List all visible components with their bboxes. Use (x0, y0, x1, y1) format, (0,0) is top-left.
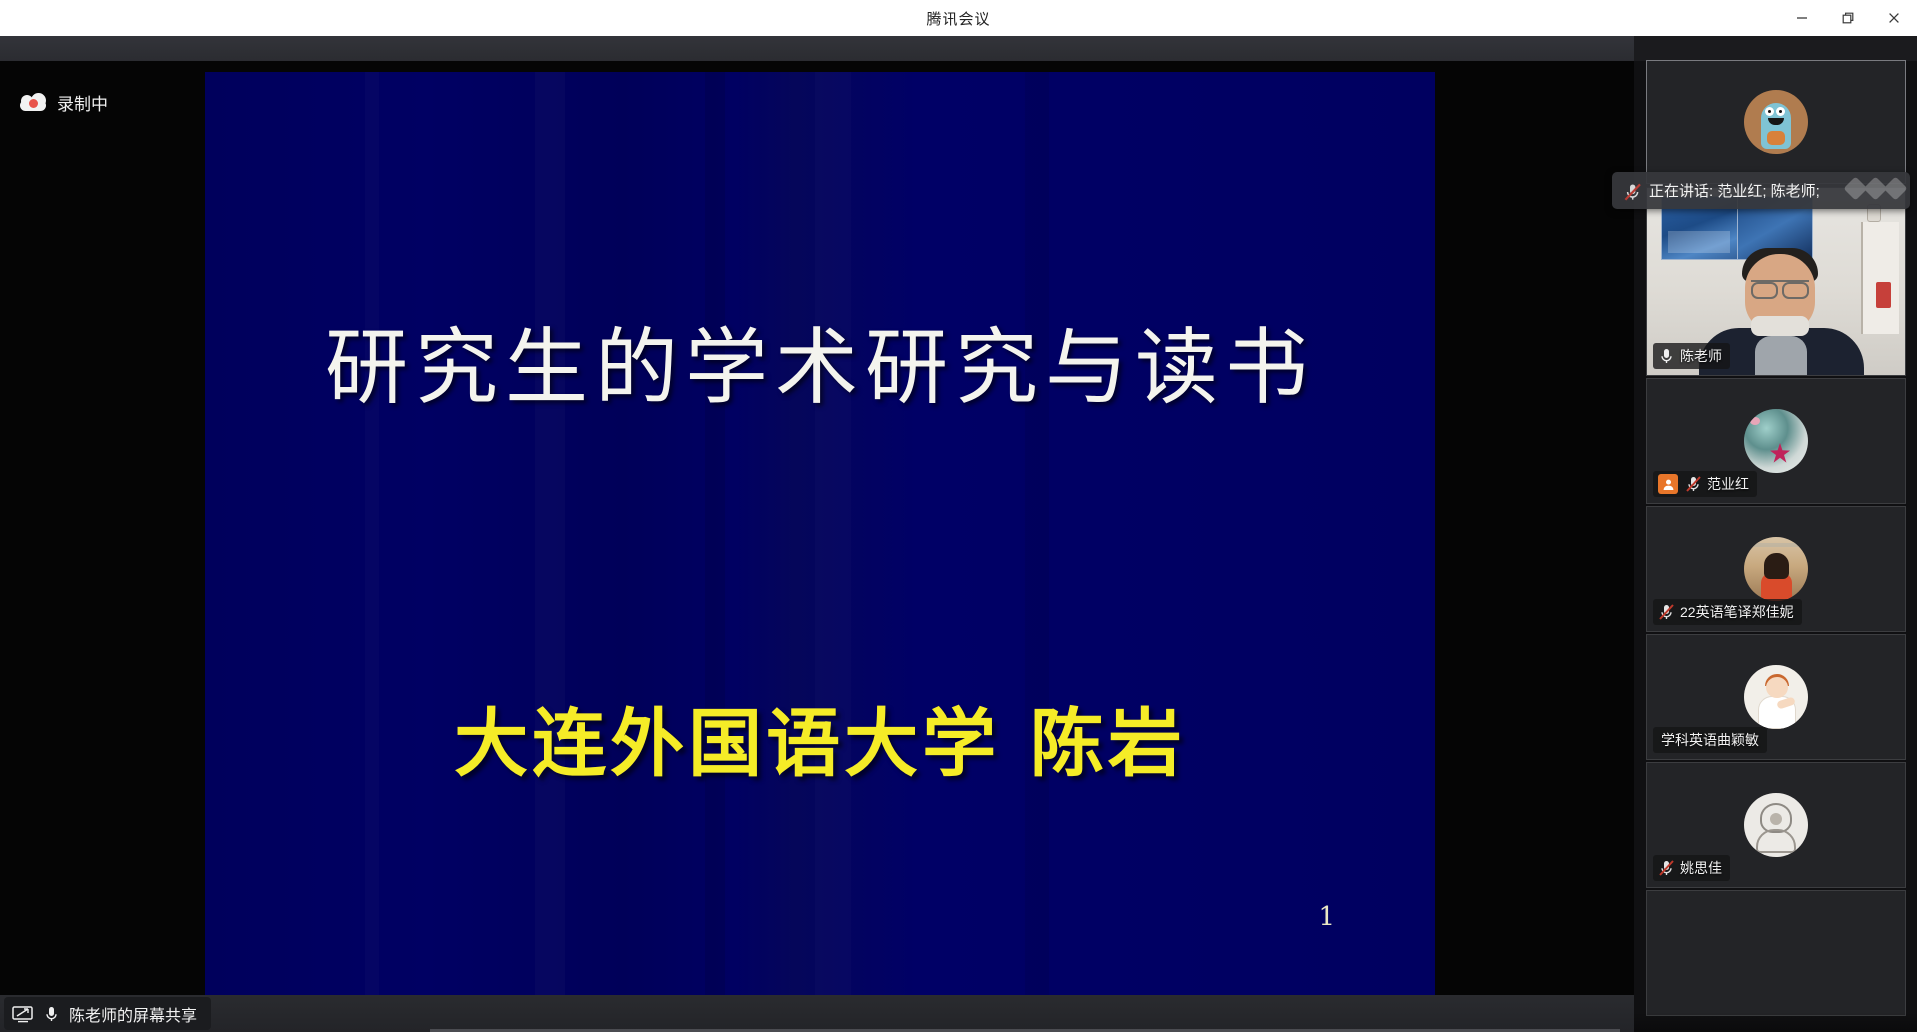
kid-illustration-avatar (1744, 665, 1808, 729)
participant-name: 22英语笔译郑佳妮 (1680, 602, 1794, 622)
slide-title: 研究生的学术研究与读书 (205, 300, 1435, 420)
participant-tile[interactable]: 学科英语曲颖敏 (1646, 634, 1906, 760)
speaking-text: 正在讲话: 范业红; 陈老师; (1649, 180, 1820, 201)
participant-tile[interactable]: 姚思佳 (1646, 762, 1906, 888)
screen-share-icon (12, 1005, 34, 1023)
slide-stripe (535, 72, 565, 997)
restore-icon[interactable] (1825, 0, 1871, 36)
recording-label: 录制中 (57, 90, 108, 115)
sketch-avatar (1744, 793, 1808, 857)
mic-on-icon (1658, 347, 1675, 365)
slide-stripe (815, 72, 851, 997)
share-label: 陈老师的屏幕共享 (69, 1002, 197, 1026)
participant-name-badge: 学科英语曲颖敏 (1653, 727, 1767, 753)
close-icon[interactable] (1871, 0, 1917, 36)
host-badge-icon (1658, 474, 1678, 494)
cartoon-creature-avatar (1744, 90, 1808, 154)
participant-name-badge: 姚思佳 (1653, 855, 1730, 881)
toolbar-strip (0, 36, 1917, 61)
window-titlebar: 腾讯会议 (0, 0, 1917, 36)
recording-indicator[interactable]: 录制中 (20, 90, 108, 115)
slide-stripe (705, 72, 725, 997)
slide-page-number: 1 (1318, 902, 1335, 932)
flower-photo-avatar (1744, 409, 1808, 473)
cloud-recording-icon (20, 94, 46, 112)
participant-tile[interactable]: 范业红 (1646, 378, 1906, 504)
participant-name-badge: 范业红 (1653, 471, 1757, 497)
meeting-window: 腾讯会议 录制中 (0, 0, 1917, 1032)
window-controls (1779, 0, 1917, 36)
window-title: 腾讯会议 (926, 8, 990, 29)
slide-subtitle: 大连外国语大学 陈岩 (205, 684, 1435, 791)
rail-top-strip (1634, 36, 1917, 61)
participant-tile[interactable] (1646, 60, 1906, 184)
screen-share-status[interactable]: 陈老师的屏幕共享 (4, 997, 211, 1030)
participant-name: 陈老师 (1680, 346, 1722, 366)
mic-muted-icon (1623, 182, 1640, 200)
participant-name: 范业红 (1707, 474, 1749, 494)
slide-stripe (365, 72, 379, 997)
mic-muted-icon (1658, 603, 1675, 621)
shop-photo-avatar (1744, 537, 1808, 601)
minimize-icon[interactable] (1779, 0, 1825, 36)
mic-on-icon (43, 1005, 60, 1023)
mic-muted-icon (1685, 475, 1702, 493)
participant-tile[interactable] (1646, 890, 1906, 1016)
mic-muted-icon (1658, 859, 1675, 877)
participant-name: 姚思佳 (1680, 858, 1722, 878)
presentation-slide[interactable]: 研究生的学术研究与读书 大连外国语大学 陈岩 1 (205, 72, 1435, 997)
participant-name: 学科英语曲颖敏 (1661, 730, 1759, 750)
participant-name-badge: 陈老师 (1653, 343, 1730, 369)
participant-tile[interactable]: 陈老师 (1646, 187, 1906, 376)
avatar (1647, 61, 1905, 183)
participant-tile[interactable]: 22英语笔译郑佳妮 (1646, 506, 1906, 632)
participant-name-badge: 22英语笔译郑佳妮 (1653, 599, 1802, 625)
bottom-status-bar: 陈老师的屏幕共享 (0, 995, 1634, 1032)
audio-wave-icon (1847, 180, 1904, 197)
speaking-banner: 正在讲话: 范业红; 陈老师; (1612, 172, 1910, 209)
slide-stripe (1025, 72, 1049, 997)
